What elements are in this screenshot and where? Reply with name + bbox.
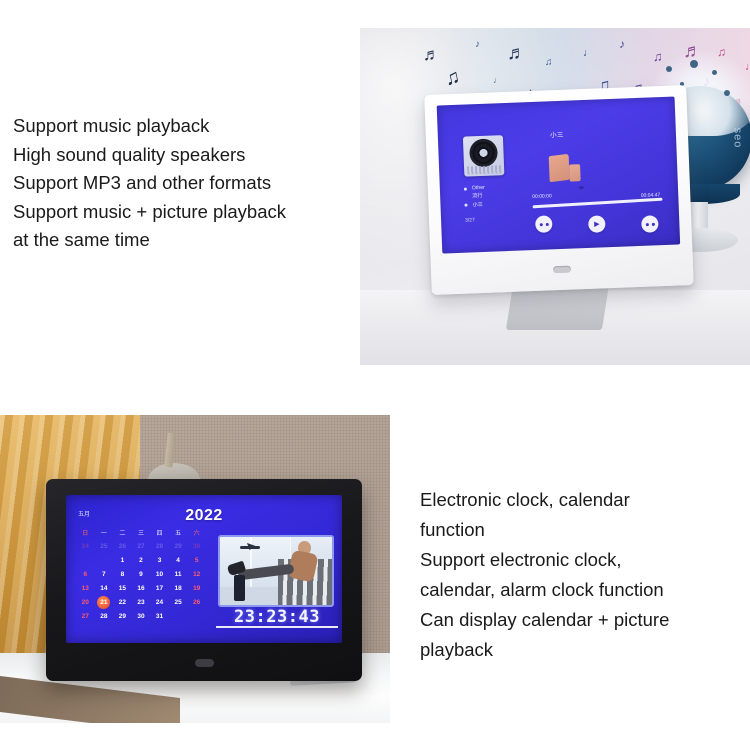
top-feature-text-block: Support music playback High sound qualit… [13,112,363,255]
calendar-day[interactable]: 9 [132,567,151,581]
calendar-day[interactable] [95,553,114,567]
feature-line: function [420,515,740,545]
calendar-day[interactable]: 24 [76,539,95,553]
feature-line: High sound quality speakers [13,141,363,170]
weekday-header: 二 [113,525,132,539]
playlist-bullet-icon [464,204,467,207]
play-icon: ▶ [594,220,600,227]
music-note-icon: ♬ [423,46,440,63]
calendar-day[interactable]: 14 [95,581,114,595]
calendar-day[interactable]: 10 [150,567,169,581]
calendar-day[interactable]: 28 [150,539,169,553]
photo-slideshow-thumbnail[interactable] [218,535,334,607]
artwork-shape-primary [549,154,570,182]
weekday-header: 四 [150,525,169,539]
track-count: 3/27 [465,217,475,223]
calendar-day[interactable]: 8 [113,567,132,581]
clock-underline [216,626,338,628]
calendar-day[interactable]: 7 [95,567,114,581]
product-photo-calendar: 五月 2022 日 一 二 三 四 五 [0,415,390,723]
calendar-day[interactable]: 27 [76,609,95,623]
music-note-icon: ♫ [545,58,553,68]
bottom-feature-text-block: Electronic clock, calendar function Supp… [420,485,740,665]
calendar-day[interactable]: 12 [187,567,206,581]
calendar-day[interactable]: 13 [76,581,95,595]
calendar-day[interactable]: 17 [150,581,169,595]
time-elapsed: 00:00:00 [532,193,552,200]
calendar-day[interactable]: 4 [169,553,188,567]
calendar-day[interactable]: 23 [132,595,151,609]
plane-wing [247,543,256,550]
music-note-icon: ♩ [583,48,594,59]
next-icon [645,222,654,225]
playlist-item-label: Other [472,185,485,191]
calendar-day[interactable]: 6 [76,567,95,581]
calendar-day[interactable]: 31 [150,609,169,623]
previous-icon [539,222,548,225]
album-art-caption [467,165,501,174]
seated-traveler [272,541,330,605]
calendar-day[interactable]: 28 [95,609,114,623]
calendar-day-selected[interactable]: 21 [95,595,114,609]
artwork-shadow [579,186,584,189]
playlist[interactable]: Other 流行 小三 [464,184,486,210]
calendar-week-row: 27 28 29 30 31 [76,609,206,623]
calendar-day[interactable]: 29 [113,609,132,623]
feature-line: Support music + picture playback [13,198,363,227]
calendar-day[interactable]: 2 [132,553,151,567]
weekday-header: 一 [95,525,114,539]
previous-track-button[interactable] [535,215,553,233]
calendar-day[interactable]: 19 [187,581,206,595]
speaker-brand-label: seo [732,128,744,149]
calendar-table: 日 一 二 三 四 五 六 [76,525,206,623]
calendar-day[interactable]: 30 [187,539,206,553]
calendar-day[interactable]: 29 [169,539,188,553]
feature-line: Support music playback [13,112,363,141]
calendar-day[interactable]: 25 [95,539,114,553]
digital-clock: 23:23:43 [218,607,336,627]
ir-sensor-indicator [553,266,571,274]
frame-screen-music: 小三 Other 流行 [437,96,681,253]
calendar-body: 24 25 26 27 28 29 30 [76,539,206,623]
calendar-day[interactable]: 11 [169,567,188,581]
feature-line: Support MP3 and other formats [13,169,363,198]
feature-line: Can display calendar + picture [420,605,740,635]
feature-line: Support electronic clock, [420,545,740,575]
calendar-day[interactable] [76,553,95,567]
vinyl-record-icon [469,138,498,167]
playlist-bullet-icon [464,195,467,198]
calendar-day[interactable]: 15 [113,581,132,595]
calendar-weekday-header-row: 日 一 二 三 四 五 六 [76,525,206,539]
digital-photo-frame-black: 五月 2022 日 一 二 三 四 五 [46,479,362,681]
feature-line: calendar, alarm clock function [420,575,740,605]
selected-day-marker: 21 [97,596,110,609]
weekday-header: 三 [132,525,151,539]
calendar-day[interactable]: 3 [150,553,169,567]
track-artwork-graphic [547,150,588,184]
desk-wood-edge [0,676,180,723]
top-feature-section: Support music playback High sound qualit… [0,0,750,390]
calendar-week-row: 13 14 15 16 17 18 19 [76,581,206,595]
feature-line: Electronic clock, calendar [420,485,740,515]
calendar-week-row: 24 25 26 27 28 29 30 [76,539,206,553]
ir-sensor-indicator [195,659,214,667]
artwork-shape-secondary [569,164,581,181]
calendar-day[interactable]: 20 [76,595,95,609]
music-note-icon: ♪ [475,40,480,50]
calendar-year: 2022 [66,507,342,525]
track-title: 小三 [438,124,676,143]
frame-screen-calendar: 五月 2022 日 一 二 三 四 五 [66,495,342,643]
calendar-day[interactable]: 24 [150,595,169,609]
weekday-header: 五 [169,525,188,539]
calendar-day[interactable]: 25 [169,595,188,609]
calendar-clock-ui: 五月 2022 日 一 二 三 四 五 [66,495,342,643]
play-button[interactable]: ▶ [588,215,606,233]
travel-bag [234,575,245,601]
calendar-day[interactable]: 18 [169,581,188,595]
calendar-week-row: 6 7 8 9 10 11 12 [76,567,206,581]
next-track-button[interactable] [641,215,659,233]
calendar-grid[interactable]: 日 一 二 三 四 五 六 [76,525,206,623]
playlist-item-selected[interactable]: 小三 [464,201,485,210]
feature-line: playback [420,635,740,665]
music-note-icon: ♪ [619,38,625,50]
calendar-day[interactable]: 16 [132,581,151,595]
calendar-day[interactable]: 26 [113,539,132,553]
calendar-day[interactable]: 22 [113,595,132,609]
calendar-day[interactable]: 27 [132,539,151,553]
calendar-day[interactable]: 30 [132,609,151,623]
calendar-day[interactable]: 5 [187,553,206,567]
music-note-icon: ♩ [493,76,502,85]
calendar-week-row: 20 21 22 23 24 25 26 [76,595,206,609]
calendar-day[interactable] [169,609,188,623]
bottom-feature-section: 五月 2022 日 一 二 三 四 五 [0,398,750,750]
music-player-ui: 小三 Other 流行 [437,96,681,253]
playlist-item-label: 小三 [472,202,483,208]
feature-line: at the same time [13,226,363,255]
airplane-icon [240,543,260,551]
music-note-icon: ♬ [507,44,526,63]
calendar-day[interactable] [187,609,206,623]
playback-controls[interactable]: ▶ [533,209,666,238]
calendar-day[interactable]: 1 [113,553,132,567]
calendar-week-row: 1 2 3 4 5 [76,553,206,567]
digital-photo-frame-white: 小三 Other 流行 [424,85,693,295]
weekday-header: 日 [76,525,95,539]
calendar-day[interactable]: 26 [187,595,206,609]
playlist-item-label: 流行 [472,193,483,199]
weekday-header: 六 [187,525,206,539]
product-photo-music: ♬ ♫ ♪ ♩ ♬ ♪ ♫ ♬ ♩ ♫ ♪ ♬ ♫ ♩ ♬ ♪ ♫ ♬ ♩ ♪ … [360,28,750,365]
playlist-bullet-icon [464,187,467,190]
